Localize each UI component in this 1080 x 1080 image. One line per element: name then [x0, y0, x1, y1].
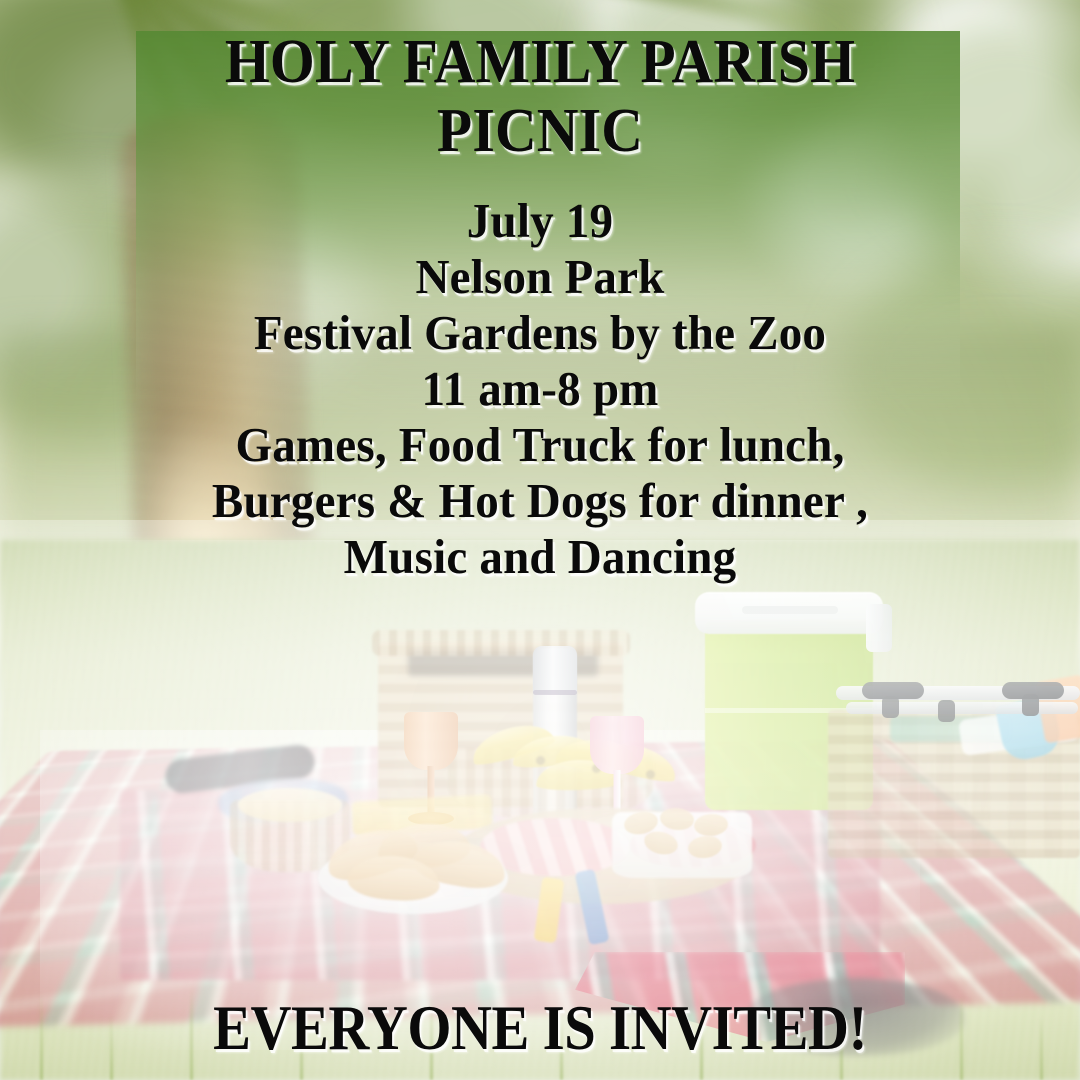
detail-park: Nelson Park: [22, 252, 1059, 302]
detail-dinner: Burgers & Hot Dogs for dinner ,: [22, 476, 1059, 526]
detail-date: July 19: [22, 196, 1059, 246]
poster-text-layer: HOLY FAMILY PARISH PICNIC July 19 Nelson…: [0, 0, 1080, 1080]
poster-title: HOLY FAMILY PARISH PICNIC: [38, 28, 1042, 167]
detail-time: 11 am-8 pm: [22, 364, 1059, 414]
poster-details: July 19 Nelson Park Festival Gardens by …: [0, 196, 1080, 588]
detail-venue: Festival Gardens by the Zoo: [22, 308, 1059, 358]
detail-music: Music and Dancing: [22, 532, 1059, 582]
detail-lunch: Games, Food Truck for lunch,: [22, 420, 1059, 470]
title-line-1: HOLY FAMILY PARISH: [225, 28, 855, 96]
poster-footer: EVERYONE IS INVITED!: [54, 996, 1026, 1060]
title-line-2: PICNIC: [177, 97, 902, 166]
picnic-flyer-poster: HOLY FAMILY PARISH PICNIC July 19 Nelson…: [0, 0, 1080, 1080]
